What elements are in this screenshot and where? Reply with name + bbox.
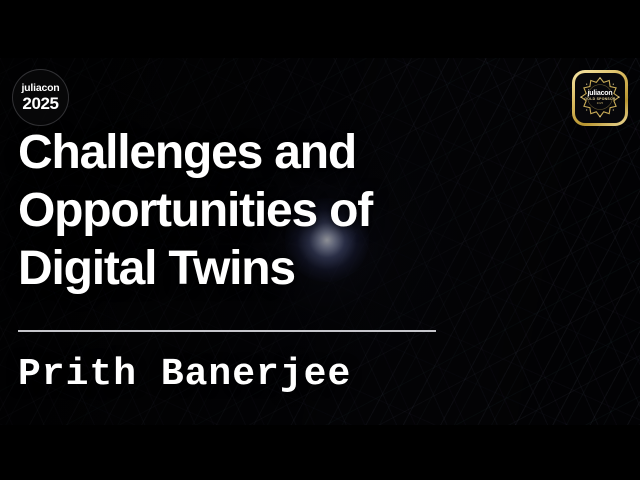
gold-sponsor-badge-inner: juliacon GOLD SPONSOR 2025 bbox=[575, 73, 625, 123]
juliacon-badge-year: 2025 bbox=[22, 95, 58, 112]
title-speaker-divider bbox=[18, 330, 436, 332]
letterbox-bar-bottom bbox=[0, 425, 640, 480]
gold-badge-wordmark: juliacon bbox=[584, 90, 615, 97]
letterbox-bar-top bbox=[0, 0, 640, 58]
juliacon-badge-wordmark: juliacon bbox=[21, 83, 59, 94]
slide-content: juliacon 2025 bbox=[0, 0, 640, 480]
gold-badge-year: 2025 bbox=[584, 103, 615, 106]
speaker-name: Prith Banerjee bbox=[18, 352, 351, 398]
talk-title-line-3: Digital Twins bbox=[18, 240, 578, 298]
talk-title-line-1: Challenges and bbox=[18, 124, 578, 182]
gold-sponsor-badge: juliacon GOLD SPONSOR 2025 bbox=[572, 70, 628, 126]
talk-title: Challenges and Opportunities of Digital … bbox=[18, 124, 578, 298]
talk-title-card: juliacon 2025 bbox=[0, 0, 640, 480]
gold-sponsor-badge-text: juliacon GOLD SPONSOR 2025 bbox=[584, 90, 615, 106]
juliacon-logo-badge: juliacon 2025 bbox=[12, 69, 69, 126]
talk-title-line-2: Opportunities of bbox=[18, 182, 578, 240]
